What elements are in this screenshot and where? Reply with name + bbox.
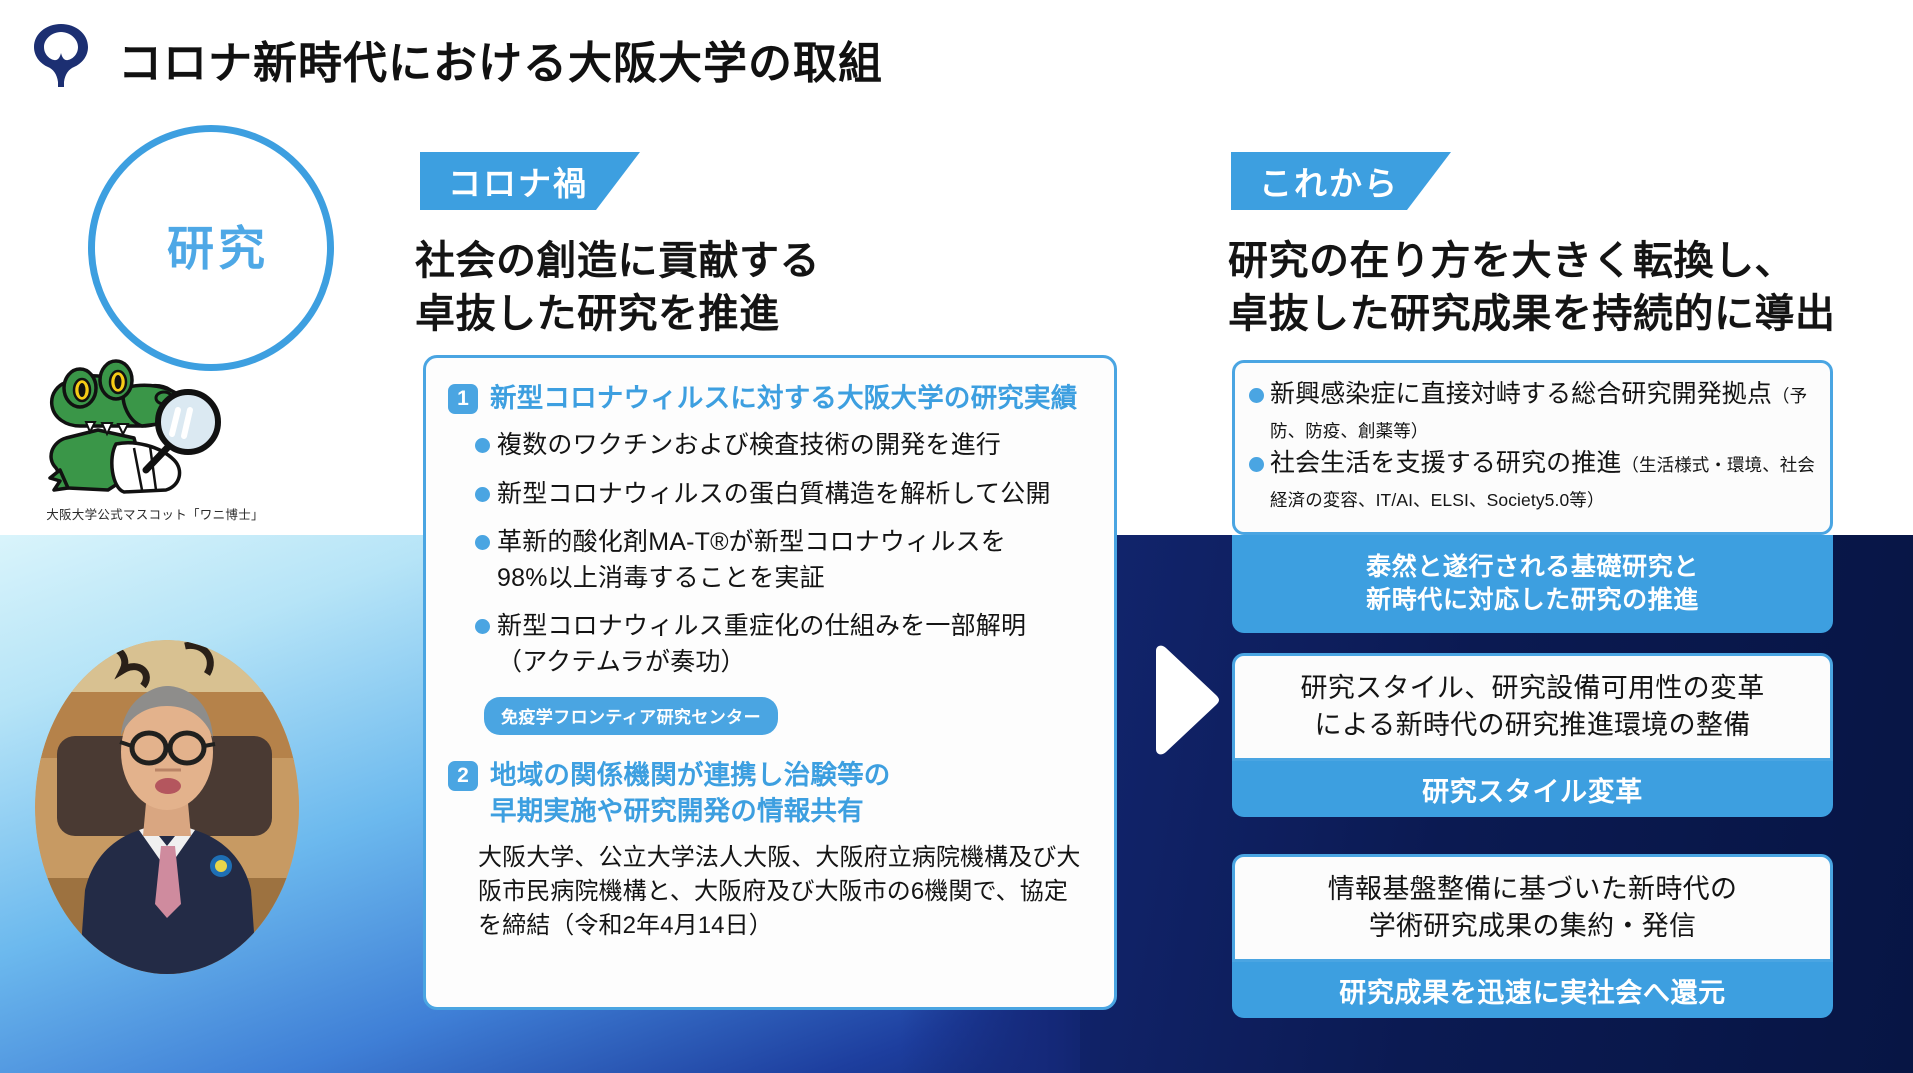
future-card-3-line2: 学術研究成果の集約・発信: [1369, 908, 1697, 945]
right-arrow-icon: [1148, 645, 1220, 755]
list-item: 複数のワクチンおよび検査技術の開発を進行: [475, 428, 1090, 464]
section-2-header: 2 地域の関係機関が連携し治験等の 早期実施や研究開発の情報共有: [448, 757, 1090, 829]
future-card-2: 研究スタイル、研究設備可用性の変革 による新時代の研究推進環境の整備: [1232, 653, 1833, 761]
bullet-dot-icon: [475, 438, 490, 453]
future-card-3-line1: 情報基盤整備に基づいた新時代の: [1328, 871, 1738, 908]
headline-corona-era-line1: 社会の創造に貢献する: [415, 235, 820, 288]
section-1-header: 1 新型コロナウィルスに対する大阪大学の研究実績: [448, 380, 1090, 416]
future-card-1-bullet1-main: 新興感染症に直接対峙する総合研究開発拠点: [1270, 380, 1772, 408]
future-bar-1-line2: 新時代に対応した研究の推進: [1366, 584, 1699, 617]
list-item-text: 新型コロナウィルス重症化の仕組みを一部解明 （アクテムラが奏功）: [497, 609, 1026, 680]
future-card-2-line1: 研究スタイル、研究設備可用性の変革: [1300, 670, 1764, 707]
section-1-heading: 新型コロナウィルスに対する大阪大学の研究実績: [490, 380, 1077, 416]
banner-corona-era-label: コロナ禍: [448, 157, 588, 205]
future-card-2-line2: による新時代の研究推進環境の整備: [1315, 707, 1751, 744]
future-bar-3-label: 研究成果を迅速に実社会へ還元: [1339, 971, 1725, 1010]
achievements-card: 1 新型コロナウィルスに対する大阪大学の研究実績 複数のワクチンおよび検査技術の…: [423, 355, 1117, 1010]
status-badge-ifrec: 免疫学フロンティア研究センター: [484, 697, 778, 735]
future-bar-1-line1: 泰然と遂行される基礎研究と: [1366, 551, 1699, 584]
section-2-body-text: 大阪大学、公立大学法人大阪、大阪府立病院機構及び大阪市民病院機構と、大阪府及び大…: [448, 841, 1090, 943]
section-1-bullet-list: 複数のワクチンおよび検査技術の開発を進行 新型コロナウィルスの蛋白質構造を解析し…: [448, 428, 1090, 680]
research-circle-label: 研究: [95, 210, 341, 279]
list-item-text: 複数のワクチンおよび検査技術の開発を進行: [497, 428, 1001, 464]
section-2-heading-line1: 地域の関係機関が連携し治験等の: [490, 757, 891, 793]
bullet-dot-icon: [475, 535, 490, 550]
bullet-dot-icon: [1249, 388, 1264, 403]
bullet-dot-icon: [475, 619, 490, 634]
list-item-text: 革新的酸化剤MA-T®が新型コロナウィルスを 98%以上消毒することを実証: [497, 525, 1006, 596]
headline-future-line1: 研究の在り方を大きく転換し、: [1228, 235, 1836, 288]
osaka-university-logo-icon: [30, 22, 92, 88]
future-card-1-bullet2-main: 社会生活を支援する研究の推進: [1270, 449, 1621, 477]
list-item: 革新的酸化剤MA-T®が新型コロナウィルスを 98%以上消毒することを実証: [475, 525, 1090, 596]
wani-hakase-crocodile-mascot-icon: [38, 318, 258, 498]
section-2-heading-line2: 早期実施や研究開発の情報共有: [490, 793, 891, 829]
list-item: 新興感染症に直接対峙する総合研究開発拠点（予防、防疫、創薬等）: [1249, 377, 1818, 446]
list-item: 社会生活を支援する研究の推進（生活様式・環境、社会経済の変容、IT/AI、ELS…: [1249, 446, 1818, 515]
section-2: 2 地域の関係機関が連携し治験等の 早期実施や研究開発の情報共有 大阪大学、公立…: [448, 757, 1090, 943]
future-bar-3: 研究成果を迅速に実社会へ還元: [1232, 962, 1833, 1018]
headline-corona-era-line2: 卓抜した研究を推進: [415, 288, 820, 341]
headline-corona-era: 社会の創造に貢献する 卓抜した研究を推進: [415, 235, 820, 341]
future-bar-1: 泰然と遂行される基礎研究と 新時代に対応した研究の推進: [1232, 535, 1833, 633]
list-item: 新型コロナウィルスの蛋白質構造を解析して公開: [475, 477, 1090, 513]
bullet-dot-icon: [475, 487, 490, 502]
section-2-number-badge: 2: [448, 761, 478, 791]
future-card-1: 新興感染症に直接対峙する総合研究開発拠点（予防、防疫、創薬等） 社会生活を支援す…: [1232, 360, 1833, 535]
headline-future-line2: 卓抜した研究成果を持続的に導出: [1228, 288, 1836, 341]
slide-header: コロナ新時代における大阪大学の取組: [0, 0, 1913, 110]
list-item-text: 社会生活を支援する研究の推進（生活様式・環境、社会経済の変容、IT/AI、ELS…: [1270, 446, 1818, 515]
bullet-dot-icon: [1249, 457, 1264, 472]
headline-future: 研究の在り方を大きく転換し、 卓抜した研究成果を持続的に導出: [1228, 235, 1836, 341]
mascot-caption: 大阪大学公式マスコット「ワニ博士」: [30, 504, 280, 523]
future-card-3-text: 情報基盤整備に基づいた新時代の 学術研究成果の集約・発信: [1235, 857, 1830, 959]
future-card-2-text: 研究スタイル、研究設備可用性の変革 による新時代の研究推進環境の整備: [1235, 656, 1830, 758]
section-2-heading: 地域の関係機関が連携し治験等の 早期実施や研究開発の情報共有: [490, 757, 891, 829]
list-item-text: 新興感染症に直接対峙する総合研究開発拠点（予防、防疫、創薬等）: [1270, 377, 1818, 446]
president-portrait-photo: [35, 640, 300, 975]
page-title: コロナ新時代における大阪大学の取組: [118, 27, 883, 91]
section-1-number-badge: 1: [448, 384, 478, 414]
list-item: 新型コロナウィルス重症化の仕組みを一部解明 （アクテムラが奏功）: [475, 609, 1090, 680]
future-bar-2-label: 研究スタイル変革: [1422, 770, 1643, 809]
banner-future-label: これから: [1259, 157, 1399, 205]
future-bar-2: 研究スタイル変革: [1232, 761, 1833, 817]
list-item-text: 新型コロナウィルスの蛋白質構造を解析して公開: [497, 477, 1051, 513]
future-card-3: 情報基盤整備に基づいた新時代の 学術研究成果の集約・発信: [1232, 854, 1833, 962]
